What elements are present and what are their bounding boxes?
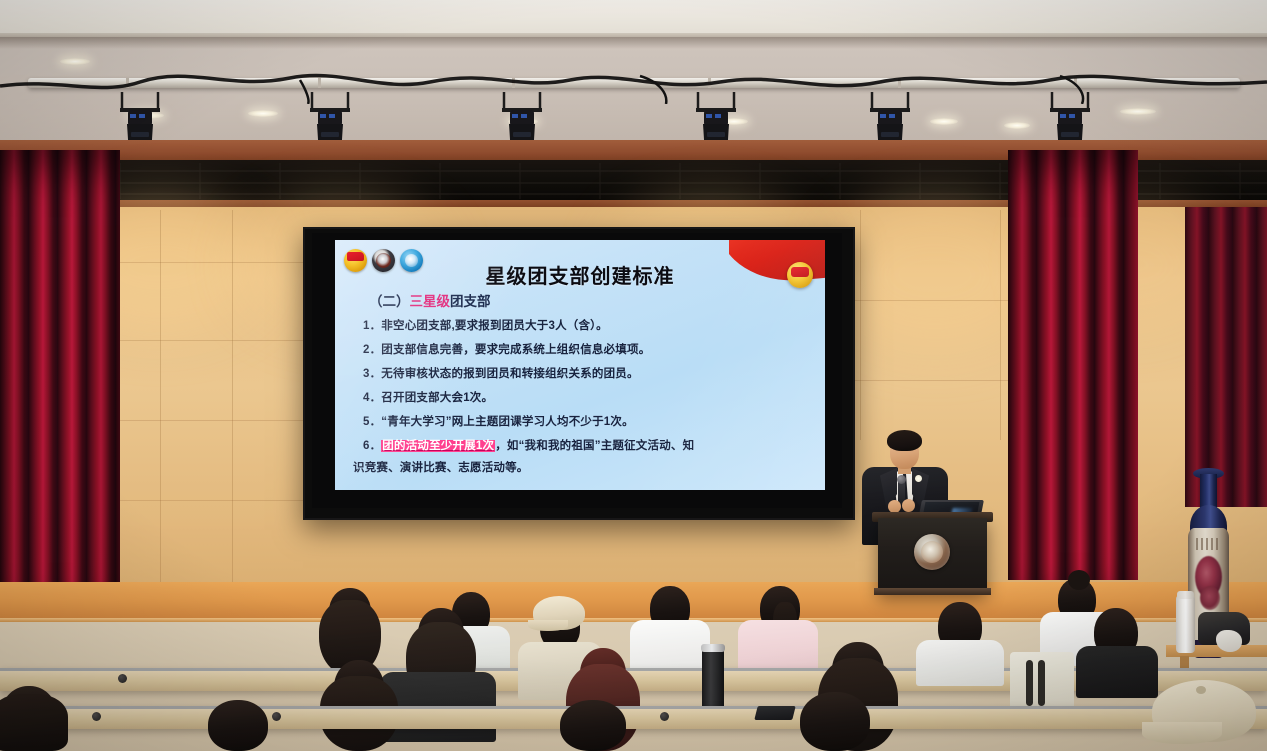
wall-seam [120, 500, 310, 501]
audience-torso [916, 640, 1004, 686]
slide-subtitle-highlight: 三星级 [410, 294, 451, 309]
stage-curtain-far-right [1185, 207, 1267, 507]
podium-crest-inner [921, 541, 943, 563]
auditorium-scene: 星级团支部创建标准 （二）三星级团支部 1．非空心团支部,要求报到团员大于3人（… [0, 0, 1267, 751]
audience-torso [1076, 646, 1158, 698]
slide-bullet: 5．“青年大学习”网上主题团课学习人均不少于1次。 [363, 415, 634, 431]
stage-curtain-right [1008, 150, 1138, 580]
slide-subtitle-suffix: 团支部 [450, 294, 491, 309]
wall-seam [120, 340, 310, 341]
slide-bullet: 2．团支部信息完善，要求完成系统上组织信息必填项。 [363, 343, 650, 359]
vase-peony-motif-secondary [1200, 586, 1220, 610]
downlight [248, 110, 278, 117]
wall-seam [232, 210, 233, 600]
audience-head-front [560, 700, 626, 751]
university-badge-inner [376, 253, 391, 268]
microphone-capsule [897, 475, 906, 484]
wall-seam [120, 262, 310, 263]
downlight [930, 118, 958, 125]
podium-base [874, 588, 991, 595]
wall-seam [860, 210, 861, 440]
slide-bullet-wrap: 识竞赛、演讲比赛、志愿活动等。 [353, 461, 529, 477]
wall-seam [1000, 210, 1001, 440]
cap-brim-front-icon [1142, 722, 1222, 744]
blue-emblem-inner [405, 254, 418, 267]
speaker-boutonniere [915, 475, 922, 482]
audience-head-front [800, 692, 870, 751]
slide-bullet: 3．无待审核状态的报到团员和转接组织关系的团员。 [363, 367, 639, 383]
desk-knob [660, 712, 669, 721]
wall-seam [160, 210, 161, 600]
slide-subtitle: （二）三星级团支部 [369, 290, 491, 310]
desk-knob [92, 712, 101, 721]
audience-head-front [208, 700, 268, 751]
soffit-shadow [0, 37, 1267, 49]
white-thermos [1176, 595, 1195, 653]
black-thermos-cap [701, 644, 725, 652]
white-thermos-cap [1177, 591, 1194, 599]
bullet6-highlight: 团的活动至少开展1次 [381, 440, 495, 452]
cap-button [1196, 686, 1206, 694]
downlight [1004, 122, 1030, 129]
bullet6-rest: ，如“我和我的祖国”主题征文活动、知 [495, 440, 694, 452]
slide-bullet: 4．召开团支部大会1次。 [363, 391, 493, 407]
tissue-bundle [1216, 630, 1242, 652]
downlight [1120, 108, 1156, 115]
smartphone [754, 706, 795, 720]
speaker-hair [887, 430, 922, 451]
audience-hair-front [0, 694, 68, 751]
bullet6-number: 6． [363, 440, 381, 452]
tote-bag-handle [1026, 660, 1033, 706]
cap-brim-icon [528, 620, 568, 631]
slide-bullet: 1．非空心团支部,要求报到团员大于3人（含）。 [363, 319, 608, 335]
desk-knob [118, 674, 127, 683]
youth-league-flag-inner [347, 252, 364, 261]
stage-curtain-left [0, 150, 120, 590]
slide-subtitle-prefix: （二） [369, 294, 410, 309]
black-thermos [702, 648, 724, 710]
slide-bullet-highlighted: 6．团的活动至少开展1次，如“我和我的祖国”主题征文活动、知 [363, 439, 807, 455]
audience-hair-bun [1068, 570, 1090, 590]
vase-calligraphy [1196, 538, 1218, 550]
speaker-hand-right [902, 499, 915, 512]
ceiling [0, 0, 1267, 36]
wall-seam [120, 420, 310, 421]
desk-knob [272, 712, 281, 721]
presentation-slide: 星级团支部创建标准 （二）三星级团支部 1．非空心团支部,要求报到团员大于3人（… [335, 240, 825, 490]
tote-bag-handle [1038, 660, 1045, 706]
desk-row [0, 706, 1267, 729]
